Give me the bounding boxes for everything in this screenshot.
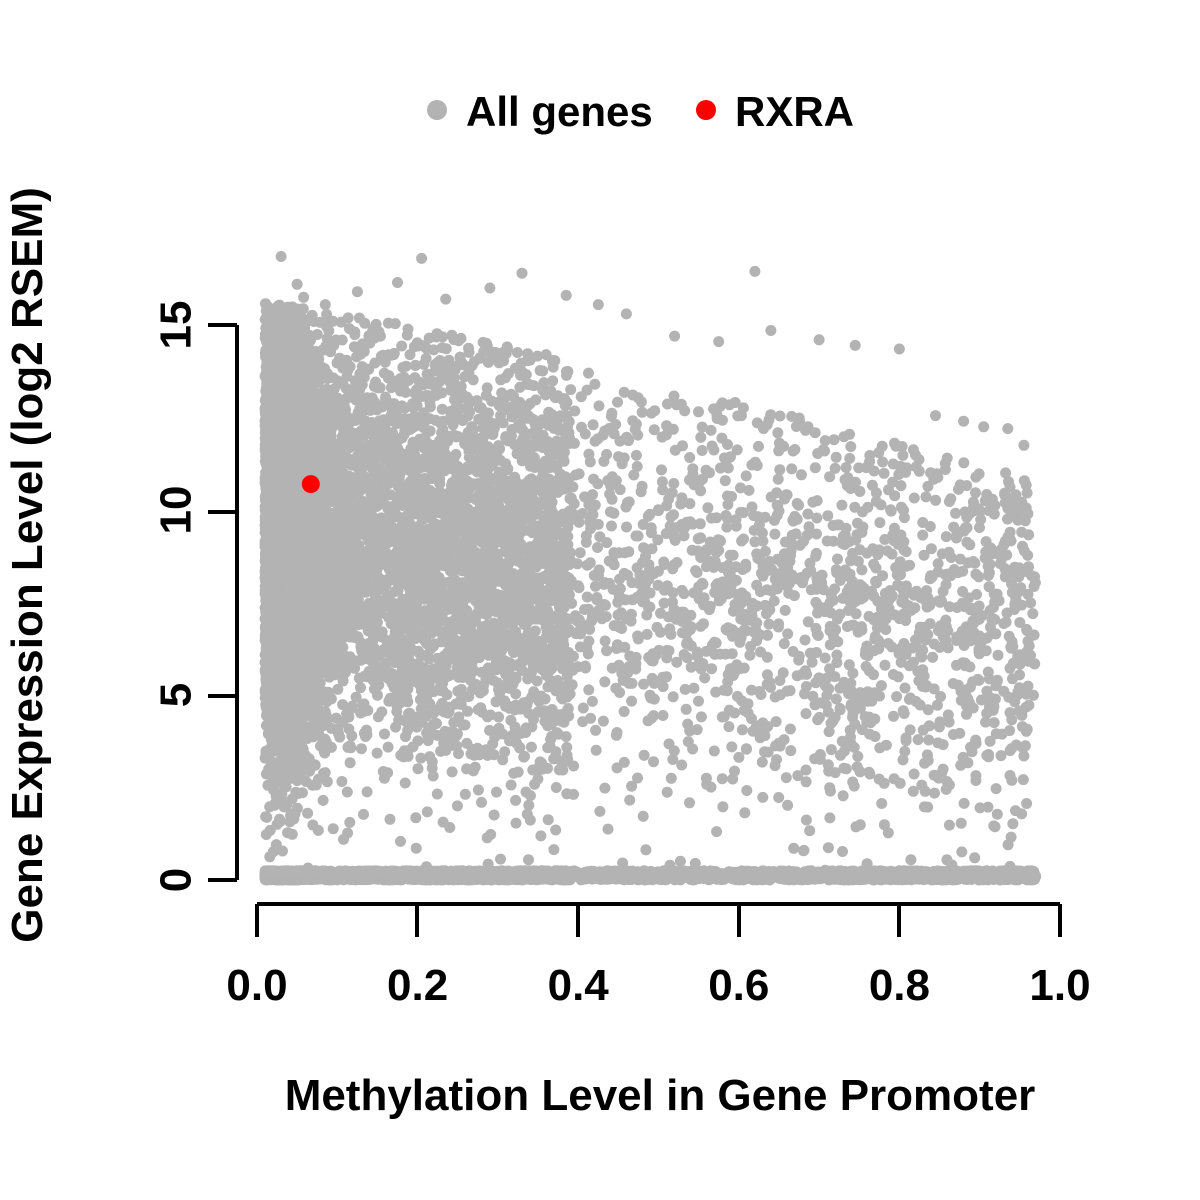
x-tick-label: 0.6 bbox=[708, 961, 769, 1010]
x-tick-label: 0.2 bbox=[387, 961, 448, 1010]
legend-marker-rxra bbox=[696, 100, 716, 120]
legend-label-all-genes: All genes bbox=[466, 88, 653, 135]
scatter-plot-figure: All genes RXRA 051015 Gene Expression Le… bbox=[0, 0, 1200, 1200]
legend-label-rxra: RXRA bbox=[735, 88, 854, 135]
x-axis-title: Methylation Level in Gene Promoter bbox=[285, 1071, 1036, 1120]
highlight-point-rxra bbox=[302, 475, 320, 493]
x-tick-label: 1.0 bbox=[1029, 961, 1090, 1010]
x-tick-label: 0.8 bbox=[869, 961, 930, 1010]
y-tick-label: 5 bbox=[152, 683, 201, 707]
legend: All genes RXRA bbox=[427, 88, 854, 135]
highlight-point-layer bbox=[302, 475, 320, 493]
y-axis-title: Gene Expression Level (log2 RSEM) bbox=[3, 187, 52, 943]
y-tick-label: 15 bbox=[152, 301, 201, 350]
x-tick-label: 0.0 bbox=[226, 961, 287, 1010]
y-tick-label: 10 bbox=[152, 486, 201, 535]
legend-marker-all-genes bbox=[427, 100, 447, 120]
plot-canvas: All genes RXRA 051015 Gene Expression Le… bbox=[0, 0, 1200, 1200]
y-tick-label: 0 bbox=[152, 868, 201, 892]
x-tick-label: 0.4 bbox=[548, 961, 610, 1010]
